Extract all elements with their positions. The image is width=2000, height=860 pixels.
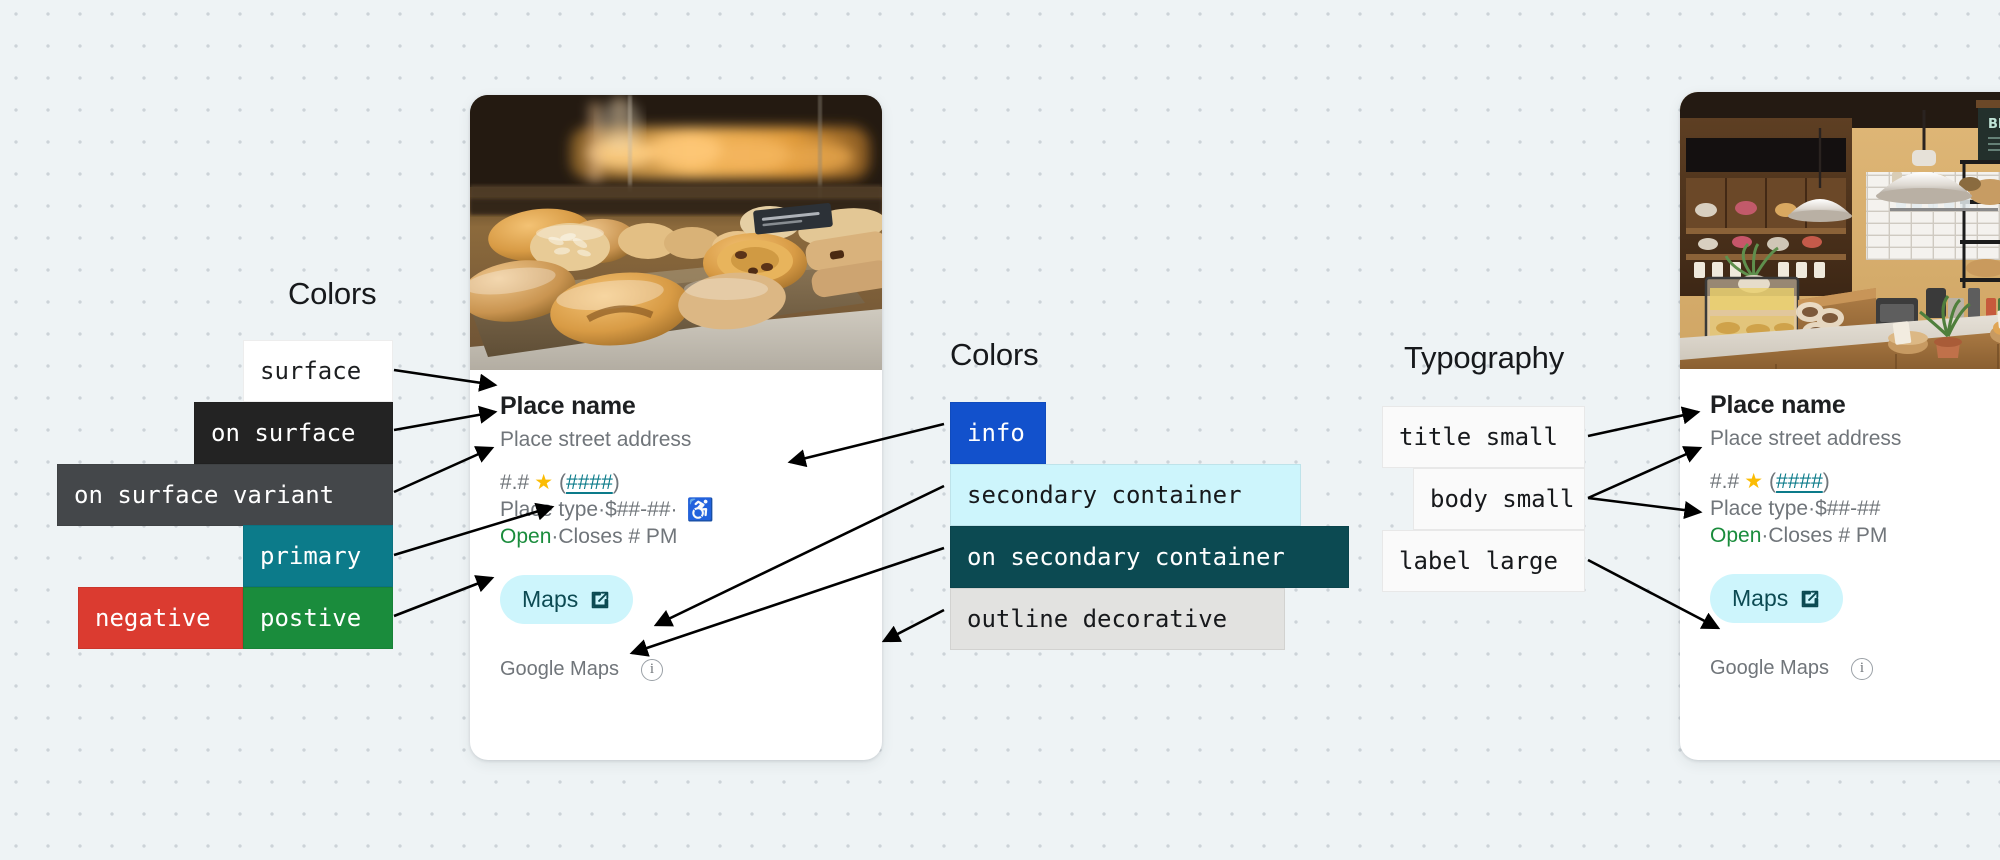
place-photo-cafe: BEBIDAS CA [1680, 92, 2000, 369]
info-icon[interactable]: i [1851, 658, 1873, 680]
open-in-new-icon [589, 589, 611, 611]
place-type-row: Place type · $##-## [1710, 497, 2000, 521]
hours-row: Open · Closes # PM [500, 525, 852, 549]
color-chip-on-secondary-container[interactable]: on secondary container [950, 526, 1349, 588]
review-count-link[interactable]: #### [1776, 470, 1823, 494]
card-footer: Google Maps i [1710, 657, 2000, 680]
separator-2: · [670, 498, 677, 522]
closing-time: Closes # PM [558, 525, 677, 549]
section-title-colors-left: Colors [288, 276, 376, 312]
chip-label: primary [260, 544, 361, 568]
rating-row: #.# ★ ( #### ) [500, 470, 852, 495]
attribution-label: Google Maps [500, 658, 619, 681]
chip-label: label large [1399, 549, 1558, 573]
chip-label: negative [95, 606, 211, 630]
bakery-pastry-display-photo [470, 95, 882, 370]
rating-value: #.# [500, 471, 529, 495]
chip-label: postive [260, 606, 361, 630]
chip-label: title small [1399, 425, 1558, 449]
chip-label: body small [1430, 487, 1575, 511]
card-footer: Google Maps i [500, 658, 852, 681]
color-chip-negative[interactable]: negative [78, 587, 243, 649]
type-chip-title-small[interactable]: title small [1382, 406, 1585, 468]
star-icon: ★ [534, 470, 553, 495]
review-count-link[interactable]: #### [566, 471, 613, 495]
status-open: Open [1710, 524, 1761, 548]
place-card-colors[interactable]: Place name Place street address #.# ★ ( … [470, 95, 882, 760]
color-chip-outline-decorative[interactable]: outline decorative [950, 588, 1285, 650]
place-card-body: Place name Place street address #.# ★ ( … [470, 392, 882, 681]
design-annotation-canvas: Colors Colors Typography [0, 0, 2000, 860]
chip-label: on surface variant [74, 483, 334, 507]
wheelchair-accessible-icon: ♿ [686, 499, 713, 521]
color-chip-on-surface-variant[interactable]: on surface variant [57, 464, 393, 526]
color-chip-primary[interactable]: primary [243, 525, 393, 587]
separator-1: · [1808, 497, 1815, 521]
rating-value: #.# [1710, 470, 1739, 494]
place-type: Place type [1710, 497, 1808, 521]
price-range: $##-## [605, 498, 670, 522]
price-range: $##-## [1815, 497, 1880, 521]
info-icon-glyph: i [650, 662, 654, 677]
review-close-paren: ) [1823, 470, 1830, 494]
color-chip-info[interactable]: info [950, 402, 1046, 464]
svg-text:BEBIDAS CA: BEBIDAS CA [1988, 117, 2000, 132]
separator-3: · [551, 525, 558, 549]
place-type-row: Place type · $##-## · ♿ [500, 498, 852, 522]
chip-label: surface [260, 359, 361, 383]
hours-row: Open · Closes # PM [1710, 524, 2000, 548]
place-type: Place type [500, 498, 598, 522]
separator-1: · [598, 498, 605, 522]
place-name: Place name [500, 392, 852, 421]
section-title-typography: Typography [1404, 340, 1564, 376]
chip-label: on secondary container [967, 545, 1285, 569]
place-address: Place street address [1710, 427, 2000, 451]
attribution-label: Google Maps [1710, 657, 1829, 680]
review-open-paren: ( [559, 471, 566, 495]
chip-label: info [967, 421, 1025, 445]
place-card-body-right: Place name Place street address #.# ★ ( … [1680, 391, 2000, 680]
place-address: Place street address [500, 428, 852, 452]
place-card-typography[interactable]: BEBIDAS CA [1680, 92, 2000, 760]
closing-time: Closes # PM [1768, 524, 1887, 548]
color-chip-postive[interactable]: postive [243, 587, 393, 649]
color-chip-surface[interactable]: surface [243, 340, 393, 402]
separator-3: · [1761, 524, 1768, 548]
maps-button-label: Maps [522, 586, 578, 613]
rating-row: #.# ★ ( #### ) [1710, 469, 2000, 494]
color-chip-secondary-container[interactable]: secondary container [950, 464, 1301, 526]
open-in-new-icon [1799, 588, 1821, 610]
arrow-outline-decorative [884, 610, 944, 641]
maps-button[interactable]: Maps [500, 575, 633, 624]
place-name: Place name [1710, 391, 2000, 420]
chip-label: secondary container [967, 483, 1242, 507]
maps-button-label: Maps [1732, 585, 1788, 612]
type-chip-body-small[interactable]: body small [1413, 468, 1585, 530]
cafe-interior-counter-photo: BEBIDAS CA [1680, 92, 2000, 369]
maps-button[interactable]: Maps [1710, 574, 1843, 623]
type-chip-label-large[interactable]: label large [1382, 530, 1585, 592]
review-open-paren: ( [1769, 470, 1776, 494]
star-icon: ★ [1744, 469, 1763, 494]
info-icon-glyph: i [1860, 661, 1864, 676]
section-title-colors-mid: Colors [950, 337, 1038, 373]
chip-label: on surface [211, 421, 356, 445]
status-open: Open [500, 525, 551, 549]
chip-label: outline decorative [967, 607, 1227, 631]
place-photo-bakery [470, 95, 882, 370]
info-icon[interactable]: i [641, 659, 663, 681]
color-chip-on-surface[interactable]: on surface [194, 402, 393, 464]
review-close-paren: ) [613, 471, 620, 495]
